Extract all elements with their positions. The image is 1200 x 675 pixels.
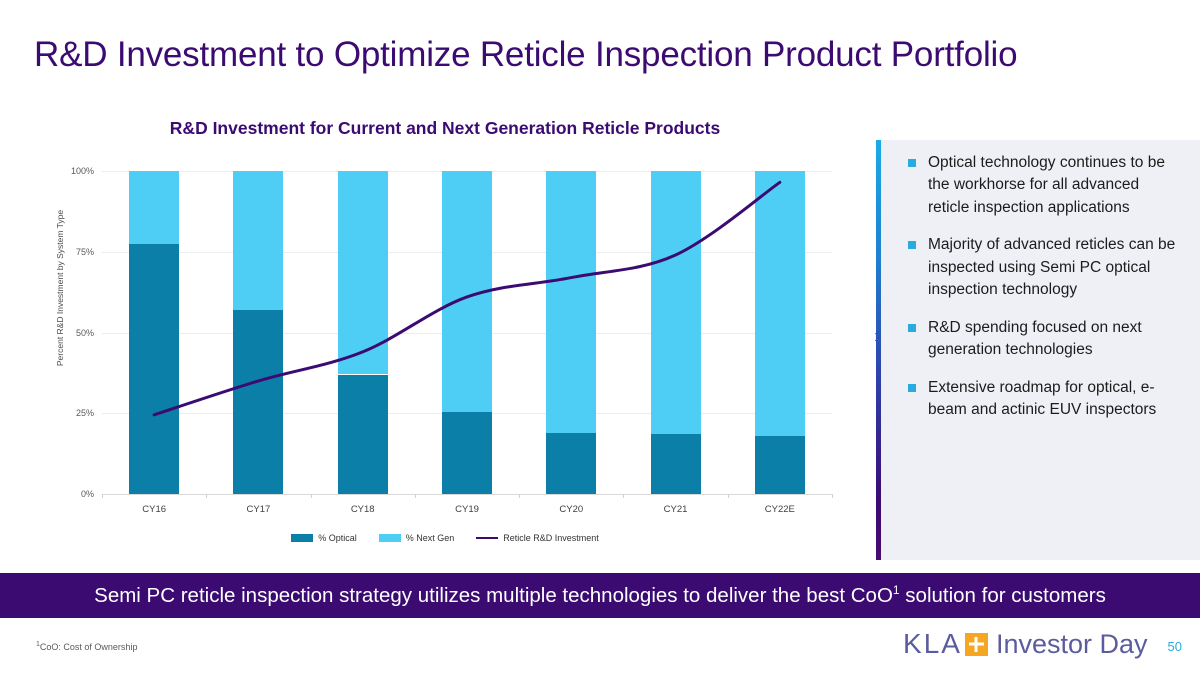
x-axis-tickmark: [728, 494, 729, 498]
bullet-item: R&D spending focused on next generation …: [904, 317, 1176, 362]
x-axis-tickmark: [623, 494, 624, 498]
legend-label: Reticle R&D Investment: [503, 533, 599, 543]
footnote: 1CoO: Cost of Ownership: [36, 641, 137, 652]
bullet-item: Extensive roadmap for optical, e-beam an…: [904, 377, 1176, 422]
legend-label: % Optical: [318, 533, 357, 543]
y-axis-tick-label: 0%: [81, 489, 94, 499]
x-axis-tickmark: [519, 494, 520, 498]
legend-label: % Next Gen: [406, 533, 455, 543]
bullet-text: Optical technology continues to be the w…: [928, 154, 1165, 216]
x-axis-tick-label: CY20: [559, 504, 583, 515]
bullet-marker-icon: [908, 159, 916, 167]
investor-day-label: Investor Day: [996, 629, 1148, 660]
trend-line-svg: [102, 171, 832, 494]
bullet-text: Extensive roadmap for optical, e-beam an…: [928, 379, 1156, 418]
bullet-list: Optical technology continues to be the w…: [904, 152, 1176, 437]
banner-text: Semi PC reticle inspection strategy util…: [0, 583, 1200, 608]
legend-line-swatch: [476, 537, 498, 540]
chart-title: R&D Investment for Current and Next Gene…: [30, 118, 860, 139]
banner-footnote-ref: 1: [893, 583, 900, 597]
bullet-text: R&D spending focused on next generation …: [928, 319, 1142, 358]
x-axis-tick-label: CY19: [455, 504, 479, 515]
trend-line-path[interactable]: [154, 182, 780, 415]
y-axis-tick-label: 50%: [76, 328, 94, 338]
x-axis-tick-label: CY18: [351, 504, 375, 515]
bullet-item: Optical technology continues to be the w…: [904, 152, 1176, 219]
x-axis-tickmark: [102, 494, 103, 498]
legend-color-swatch: [291, 534, 313, 542]
y-axis-tick-label: 75%: [76, 247, 94, 257]
legend-color-swatch: [379, 534, 401, 542]
bullet-marker-icon: [908, 241, 916, 249]
x-axis-tickmark: [206, 494, 207, 498]
bullet-marker-icon: [908, 324, 916, 332]
gridline: [102, 494, 832, 495]
bullet-text: Majority of advanced reticles can be ins…: [928, 236, 1175, 298]
page-number: 50: [1168, 639, 1182, 654]
x-axis-tick-label: CY17: [247, 504, 271, 515]
chart-container: R&D Investment for Current and Next Gene…: [30, 108, 860, 548]
page-title: R&D Investment to Optimize Reticle Inspe…: [34, 35, 1017, 75]
legend-item[interactable]: Reticle R&D Investment: [476, 533, 599, 543]
key-message-banner: Semi PC reticle inspection strategy util…: [0, 573, 1200, 618]
x-axis-tickmark: [832, 494, 833, 498]
chart-plot-area: 0%25%50%75%100%CY16CY17CY18CY19CY20CY21C…: [102, 171, 832, 494]
gradient-accent-bar: [876, 140, 881, 560]
y-axis-tick-label: 100%: [71, 166, 94, 176]
x-axis-tick-label: CY16: [142, 504, 166, 515]
brand-footer: KLA Investor Day 50: [903, 628, 1182, 660]
insights-panel: Optical technology continues to be the w…: [876, 140, 1200, 560]
legend-item[interactable]: % Optical: [291, 533, 357, 543]
legend-item[interactable]: % Next Gen: [379, 533, 455, 543]
kla-wordmark: KLA: [903, 628, 962, 660]
plus-square-icon: [965, 633, 988, 656]
banner-text-main: Semi PC reticle inspection strategy util…: [94, 584, 893, 607]
chart-legend: % Optical% Next GenReticle R&D Investmen…: [30, 533, 860, 543]
x-axis-tick-label: CY22E: [765, 504, 795, 515]
slide-root: R&D Investment to Optimize Reticle Inspe…: [0, 0, 1200, 675]
x-axis-tickmark: [311, 494, 312, 498]
y-axis-label-left: Percent R&D Investment by System Type: [55, 138, 65, 438]
bullet-marker-icon: [908, 384, 916, 392]
banner-text-tail: solution for customers: [900, 584, 1106, 607]
bullet-item: Majority of advanced reticles can be ins…: [904, 234, 1176, 301]
footnote-text: CoO: Cost of Ownership: [40, 642, 138, 652]
x-axis-tick-label: CY21: [664, 504, 688, 515]
y-axis-tick-label: 25%: [76, 408, 94, 418]
kla-logo: KLA Investor Day: [903, 628, 1148, 660]
x-axis-tickmark: [415, 494, 416, 498]
